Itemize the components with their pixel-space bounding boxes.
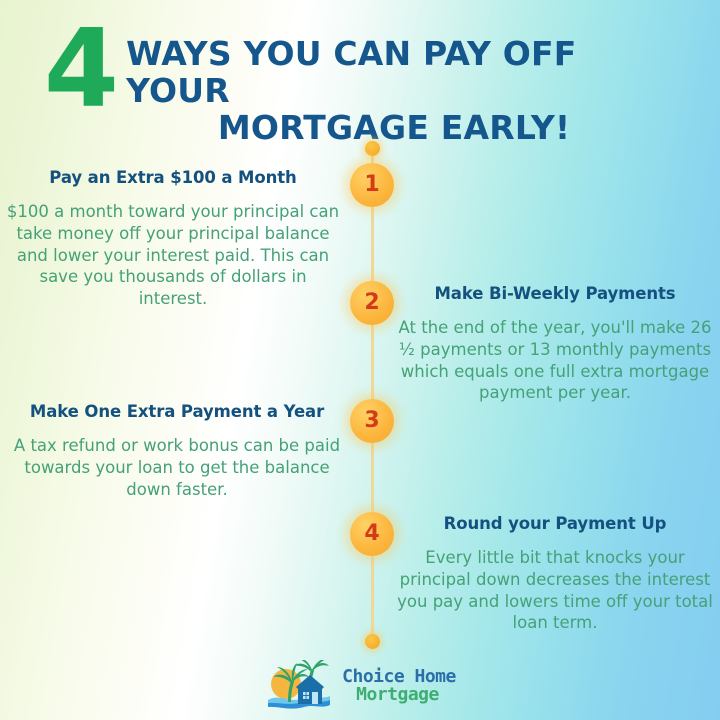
step-1-body: $100 a month toward your principal can t… (6, 201, 340, 310)
infographic-canvas: 4 WAYS YOU CAN PAY OFF YOUR MORTGAGE EAR… (0, 0, 720, 720)
step-item-3: Make One Extra Payment a Year A tax refu… (10, 402, 344, 500)
step-3-heading: Make One Extra Payment a Year (10, 402, 344, 421)
timeline-top-dot-icon (365, 141, 380, 156)
step-2-heading: Make Bi-Weekly Payments (396, 284, 714, 303)
headline-number: 4 (44, 22, 116, 117)
timeline-node-4[interactable]: 4 (350, 512, 394, 556)
brand-logo-line-2: Mortgage (342, 686, 456, 704)
step-1-heading: Pay an Extra $100 a Month (6, 168, 340, 187)
timeline-node-1[interactable]: 1 (350, 163, 394, 207)
timeline-node-4-label: 4 (364, 523, 379, 545)
timeline-node-2-label: 2 (364, 292, 379, 314)
step-item-1: Pay an Extra $100 a Month $100 a month t… (6, 168, 340, 310)
timeline-node-2[interactable]: 2 (350, 281, 394, 325)
brand-logo-text: Choice Home Mortgage (342, 668, 456, 705)
timeline-node-3-label: 3 (364, 410, 379, 432)
headline-line-2: MORTGAGE EARLY! (126, 110, 686, 147)
timeline-bottom-dot-icon (365, 634, 380, 649)
step-3-body: A tax refund or work bonus can be paid t… (10, 435, 344, 500)
headline-line-1: WAYS YOU CAN PAY OFF YOUR (126, 36, 686, 110)
palm-tree-sun-house-logo-icon (264, 660, 334, 712)
step-4-body: Every little bit that knocks your princi… (396, 547, 714, 634)
headline-title: WAYS YOU CAN PAY OFF YOUR MORTGAGE EARLY… (126, 26, 686, 147)
step-2-body: At the end of the year, you'll make 26 ½… (396, 317, 714, 404)
timeline-node-1-label: 1 (364, 174, 379, 196)
step-4-heading: Round your Payment Up (396, 514, 714, 533)
step-item-4: Round your Payment Up Every little bit t… (396, 514, 714, 634)
step-item-2: Make Bi-Weekly Payments At the end of th… (396, 284, 714, 404)
timeline-spine (371, 148, 374, 642)
brand-logo[interactable]: Choice Home Mortgage (0, 660, 720, 712)
header: 4 WAYS YOU CAN PAY OFF YOUR MORTGAGE EAR… (0, 26, 720, 147)
timeline-node-3[interactable]: 3 (350, 399, 394, 443)
